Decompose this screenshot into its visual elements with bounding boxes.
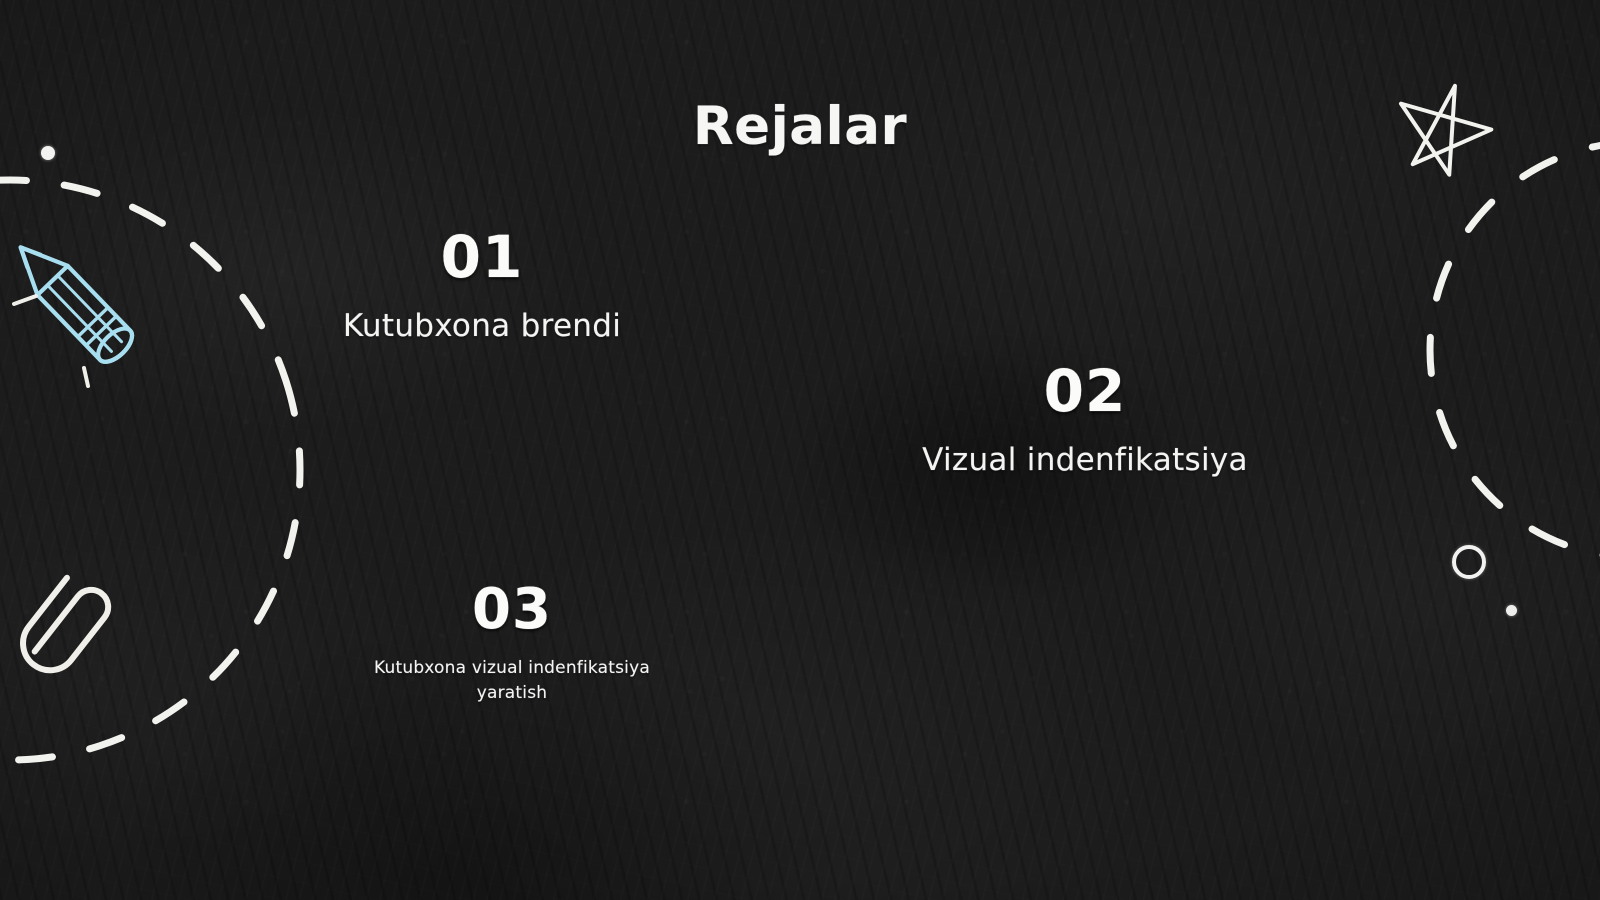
dashed-arc-right-icon (1408, 120, 1600, 580)
agenda-item-01-caption: Kutubxona brendi (232, 308, 732, 344)
page-title: Rejalar (0, 96, 1600, 157)
presentation-slide: Rejalar 01 Kutubxona brendi 02 Vizual in… (0, 0, 1600, 900)
dot-bottom-right-icon (1506, 605, 1517, 616)
agenda-item-03-caption: Kutubxona vizual indenfikatsiya yaratish (362, 656, 662, 705)
agenda-item-03: 03 Kutubxona vizual indenfikatsiya yarat… (272, 582, 752, 705)
paperclip-icon (22, 568, 132, 683)
pencil-icon (0, 196, 192, 386)
agenda-item-02-caption: Vizual indenfikatsiya (835, 442, 1335, 478)
agenda-item-01: 01 Kutubxona brendi (232, 228, 732, 344)
agenda-item-01-number: 01 (232, 228, 732, 286)
ring-right-icon (1452, 545, 1486, 579)
agenda-item-02: 02 Vizual indenfikatsiya (835, 362, 1335, 478)
agenda-item-03-number: 03 (272, 582, 752, 638)
agenda-item-02-number: 02 (835, 362, 1335, 420)
